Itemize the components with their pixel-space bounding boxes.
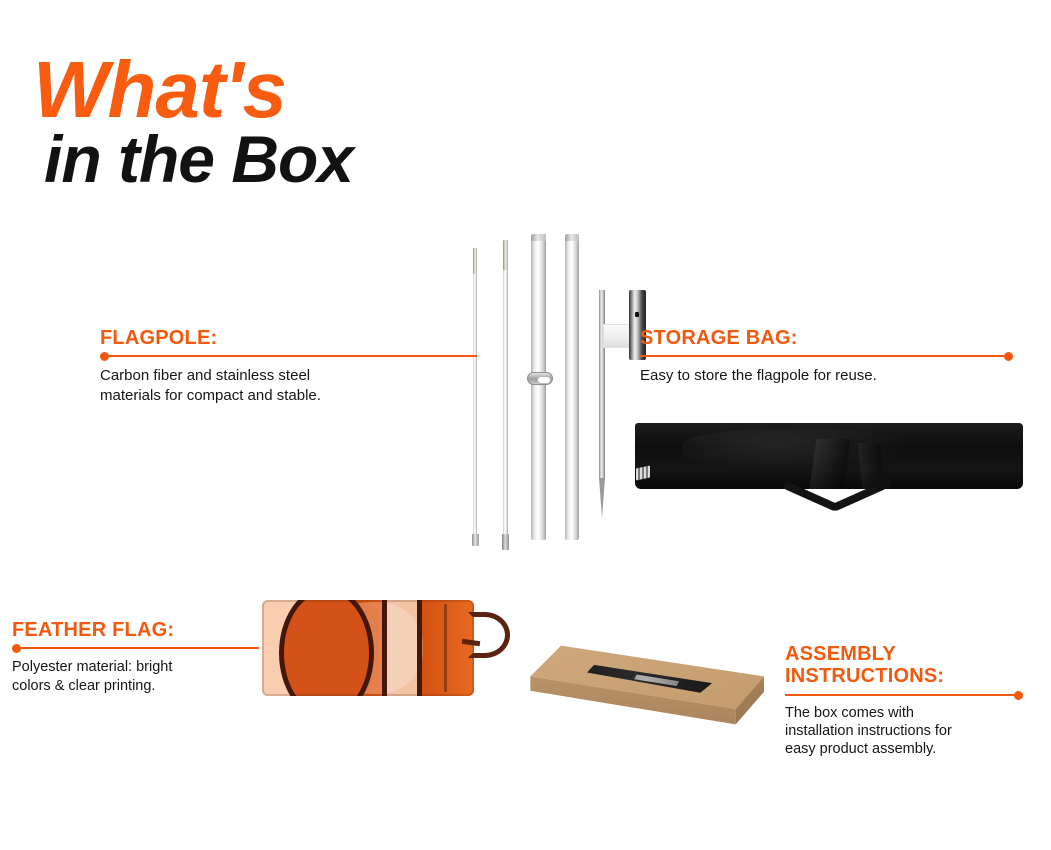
spike-shaft bbox=[599, 290, 605, 480]
pole-cap bbox=[531, 234, 546, 241]
pole-segment-thick-2 bbox=[565, 234, 579, 540]
callout-body-feather-flag: Polyester material: bright colors & clea… bbox=[12, 658, 259, 695]
pole-ferrule bbox=[473, 248, 477, 274]
handle-strap-left bbox=[783, 481, 839, 512]
pole-cap bbox=[565, 234, 579, 241]
rule-dot bbox=[1004, 352, 1013, 361]
loop-ring bbox=[468, 612, 510, 658]
callout-feather-flag: FEATHER FLAG: Polyester material: bright… bbox=[12, 619, 259, 695]
callout-rule bbox=[12, 644, 259, 653]
flagpole-image bbox=[455, 228, 640, 548]
callout-heading-storage-bag: STORAGE BAG: bbox=[640, 327, 1013, 349]
cardboard-box-image bbox=[528, 638, 764, 734]
spike-tip bbox=[599, 478, 605, 518]
clip-eyelet bbox=[537, 376, 551, 384]
callout-rule bbox=[100, 352, 477, 361]
pole-ferrule bbox=[503, 240, 508, 270]
pole-segment-thin-2 bbox=[503, 240, 508, 540]
pole-end-cap bbox=[502, 534, 509, 550]
page-title: What's in the Box bbox=[33, 53, 353, 189]
handle-knot bbox=[876, 471, 890, 489]
pole-clip bbox=[527, 372, 553, 385]
rule-dot bbox=[100, 352, 109, 361]
rule-line bbox=[16, 647, 259, 649]
rule-dot bbox=[12, 644, 21, 653]
callout-body-assembly-instructions: The box comes with installation instruct… bbox=[785, 705, 1023, 759]
callout-storage-bag: STORAGE BAG: Easy to store the flagpole … bbox=[640, 327, 1013, 386]
callout-heading-feather-flag: FEATHER FLAG: bbox=[12, 619, 259, 641]
rule-line bbox=[785, 694, 1019, 696]
pole-end-cap bbox=[472, 534, 479, 546]
rule-dot bbox=[1014, 691, 1023, 700]
flag-loop-strap bbox=[468, 612, 510, 658]
infographic-canvas: What's in the Box bbox=[0, 0, 1051, 850]
callout-body-storage-bag: Easy to store the flagpole for reuse. bbox=[640, 366, 1013, 385]
coupler-screw bbox=[635, 312, 639, 317]
callout-body-flagpole: Carbon fiber and stainless steel materia… bbox=[100, 366, 477, 404]
title-line-2: in the Box bbox=[44, 129, 353, 190]
bag-carry-handle bbox=[786, 481, 884, 507]
title-line-1: What's bbox=[33, 53, 353, 127]
feather-flag-image bbox=[262, 600, 474, 696]
storage-bag-image bbox=[635, 423, 1023, 507]
callout-heading-flagpole: FLAGPOLE: bbox=[100, 327, 477, 349]
callout-assembly-instructions: ASSEMBLY INSTRUCTIONS: The box comes wit… bbox=[785, 643, 1023, 759]
pole-segment-thick-1 bbox=[531, 234, 546, 540]
callout-rule bbox=[785, 691, 1023, 700]
callout-rule bbox=[640, 352, 1013, 361]
flag-edge bbox=[262, 600, 474, 696]
callout-flagpole: FLAGPOLE: Carbon fiber and stainless ste… bbox=[100, 327, 477, 405]
rule-line bbox=[640, 355, 1009, 357]
rule-line bbox=[104, 355, 477, 357]
callout-heading-assembly-instructions: ASSEMBLY INSTRUCTIONS: bbox=[785, 643, 1023, 688]
